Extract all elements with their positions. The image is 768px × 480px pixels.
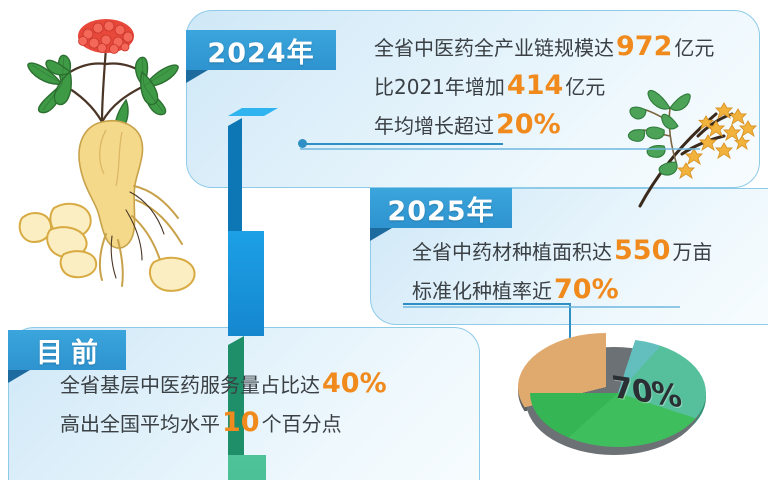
text-run: 高出全国平均水平 (60, 412, 220, 436)
text-line: 高出全国平均水平10个百分点 (60, 404, 389, 443)
accent-underline-2024 (300, 148, 700, 150)
highlight-number: 550 (612, 235, 672, 266)
connector-dot-bar (298, 139, 307, 148)
text-run: 万亩 (672, 240, 712, 264)
bar-chart-3d (228, 108, 348, 258)
highlight-number: 10 (220, 407, 262, 438)
highlight-number: 40% (320, 368, 389, 399)
text-run: 全省中药材种植面积达 (412, 240, 612, 264)
bar-2021-top (228, 108, 278, 118)
tag-2024: 2024年 (186, 30, 336, 70)
text-run: 个百分点 (262, 412, 342, 436)
text-run: 全省中医药全产业链规模达 (374, 36, 614, 60)
text-run: 全省基层中医药服务量占比达 (60, 373, 320, 397)
text-line: 全省中医药全产业链规模达972亿元 (374, 28, 714, 67)
text-line: 年均增长超过20% (374, 106, 714, 145)
text-line: 标准化种植率近70% (412, 271, 712, 310)
highlight-number: 972 (614, 31, 674, 62)
highlight-number: 20% (494, 109, 563, 140)
text-run: 比2021年增加 (374, 75, 505, 99)
tag-2025: 2025年 (370, 188, 512, 228)
infographic-canvas: 70% 2024年 2025年 目前 全省中医药全产业链规模达972亿元比202… (0, 0, 768, 480)
highlight-number: 414 (505, 70, 565, 101)
tag-2025-label: 2025年 (387, 189, 494, 228)
tag-now: 目前 (8, 330, 126, 370)
text-run: 亿元 (565, 75, 605, 99)
text-line: 全省中药材种植面积达550万亩 (412, 232, 712, 271)
text-block-2024: 全省中医药全产业链规模达972亿元比2021年增加414亿元年均增长超过20% (374, 28, 714, 145)
tag-now-label: 目前 (28, 331, 106, 370)
bar-2021-front (228, 231, 264, 336)
bar-2024-front (228, 455, 266, 480)
text-block-2025: 全省中药材种植面积达550万亩标准化种植率近70% (412, 232, 712, 310)
pie-chart-3d: 70% (508, 325, 720, 475)
highlight-number: 70% (552, 274, 621, 305)
bar-2021-side (228, 118, 242, 231)
text-line: 比2021年增加414亿元 (374, 67, 714, 106)
ginseng-plant-illustration (6, 4, 202, 304)
text-run: 年均增长超过 (374, 114, 494, 138)
text-run: 标准化种植率近 (412, 279, 552, 303)
tag-2024-label: 2024年 (207, 31, 314, 70)
text-block-now: 全省基层中医药服务量占比达40%高出全国平均水平10个百分点 (60, 365, 389, 443)
text-run: 亿元 (674, 36, 714, 60)
text-line: 全省基层中医药服务量占比达40% (60, 365, 389, 404)
